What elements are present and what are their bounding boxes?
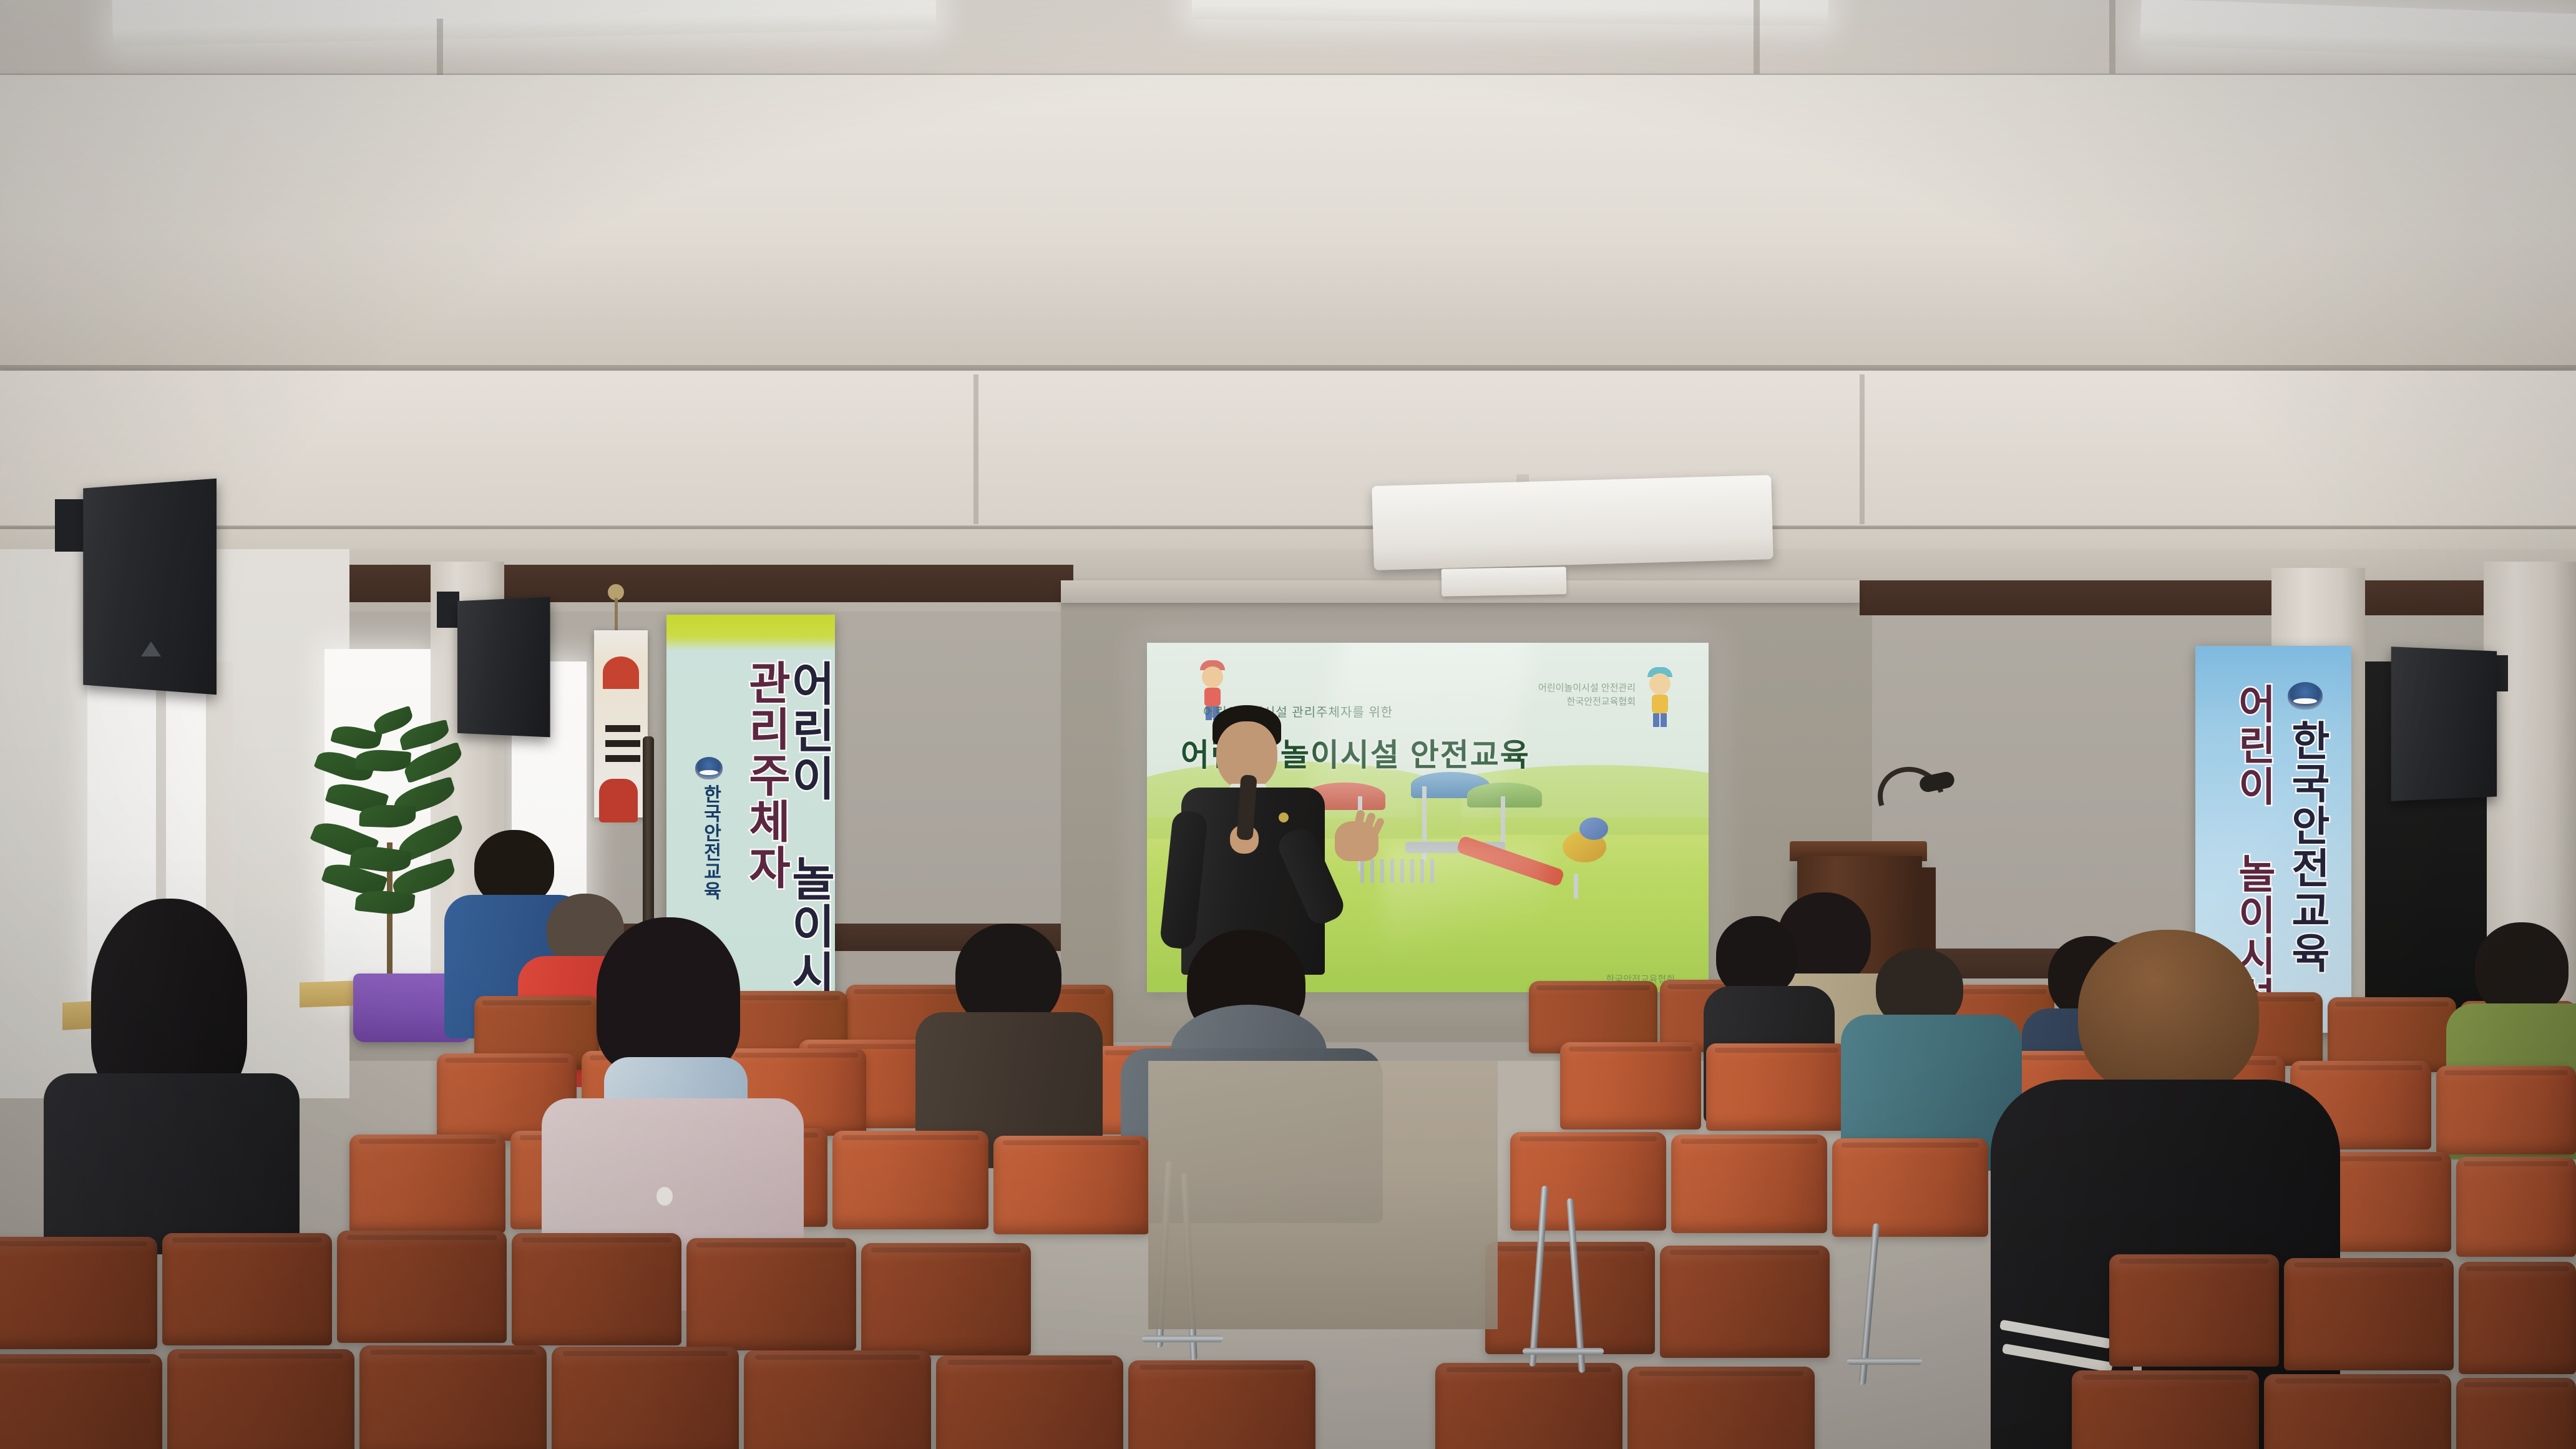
banner-left-org: 한국안전교육: [696, 784, 724, 900]
seat-frame-rail: [1847, 1358, 1922, 1365]
flag-lower-red: [599, 779, 638, 822]
flag-trigram-bar: [605, 740, 640, 747]
ceiling-beam-lower: [0, 371, 2576, 527]
seat: [861, 1243, 1031, 1355]
kid-legs-icon: [1653, 713, 1667, 727]
korea-safety-logo-right: [2288, 682, 2323, 710]
ceiling-vert-seam-1: [973, 374, 978, 524]
korea-safety-logo-left: [695, 757, 723, 779]
audience-member-dark-coat-center: [908, 924, 1108, 1148]
seat: [2264, 1374, 2451, 1449]
seat: [0, 1354, 162, 1449]
seat: [552, 1347, 739, 1449]
seat: [1660, 1246, 1830, 1358]
seat: [512, 1233, 681, 1345]
pa-speaker-bracket-left: [55, 499, 85, 552]
seat: [1560, 1042, 1701, 1129]
flag-taeguk-red: [603, 656, 639, 689]
pa-speaker-bracket-left2: [437, 592, 459, 628]
seat: [832, 1131, 988, 1229]
plant-leaf: [359, 804, 416, 828]
kid-head-icon: [1202, 666, 1223, 688]
seat: [1510, 1132, 1666, 1231]
torso: [44, 1073, 300, 1254]
head: [2475, 922, 2569, 1016]
flag-trigram-bar: [605, 725, 640, 732]
seat: [2284, 1258, 2454, 1370]
pa-speaker-right: [2391, 646, 2497, 801]
seat: [2456, 1157, 2576, 1257]
seat: [1435, 1363, 1622, 1449]
plant-leaf: [355, 748, 411, 773]
aisle-floor: [1148, 1061, 1498, 1329]
seat: [167, 1349, 354, 1449]
coat-button-icon: [656, 1187, 673, 1206]
seat: [1627, 1367, 1815, 1449]
seat: [744, 1350, 931, 1449]
head: [597, 917, 740, 1073]
seat: [349, 1134, 505, 1233]
head: [1716, 916, 1797, 997]
head: [2078, 930, 2259, 1098]
slide-corner-note: 어린이놀이시설 안전관리 한국안전교육협회: [1538, 681, 1636, 710]
seat-frame-rail: [1142, 1335, 1223, 1342]
flag-trigram-bar: [605, 755, 640, 762]
wall-dado-right: [1860, 580, 2576, 615]
seat: [359, 1345, 547, 1449]
seat: [0, 1237, 157, 1349]
seat: [2072, 1370, 2259, 1449]
seat: [2459, 1262, 2576, 1374]
kid-body-icon: [1652, 695, 1668, 713]
auditorium-photo-scene: 한국안전교육 관리주체자 어린이 놀이시설 교육 어린이 놀이시설 안전교 한국…: [0, 0, 2576, 1449]
ceiling-soffit-main: [0, 75, 2576, 368]
kid-head-icon: [1649, 673, 1671, 695]
pa-speaker-left-secondary: [457, 597, 550, 738]
flag-cord: [615, 598, 618, 635]
seat: [993, 1136, 1149, 1234]
presenter-lapel-badge-icon: [1279, 812, 1289, 822]
ceiling-groove-b: [437, 19, 443, 76]
seat: [162, 1233, 332, 1345]
seat: [2109, 1254, 2279, 1367]
seat: [1128, 1360, 1315, 1449]
seat: [1832, 1138, 1988, 1237]
seat: [1671, 1134, 1827, 1233]
projector-label-plate: [1442, 567, 1567, 596]
ceiling-projector: [1372, 475, 1773, 570]
ceiling-groove-d: [2109, 0, 2115, 74]
seat: [2436, 1066, 2576, 1154]
seat: [337, 1231, 507, 1343]
seat: [2456, 1378, 2576, 1449]
pa-speaker-logo-icon: [141, 642, 161, 656]
soffit-seam-1: [0, 365, 2576, 371]
seat: [1706, 1043, 1847, 1131]
seat: [686, 1238, 856, 1350]
seat: [936, 1355, 1123, 1449]
ceiling: [0, 0, 2576, 593]
slide-kid-right: [1645, 667, 1675, 727]
pa-speaker-left: [83, 479, 217, 695]
playground-spring-post: [1574, 874, 1578, 899]
ceiling-vert-seam-2: [1860, 374, 1865, 524]
seat-frame-rail: [1523, 1348, 1604, 1355]
playground-spring-rider: [1579, 817, 1608, 840]
ceiling-groove-c: [1754, 0, 1760, 74]
audience-member-longhair-black-coat: [37, 899, 300, 1248]
